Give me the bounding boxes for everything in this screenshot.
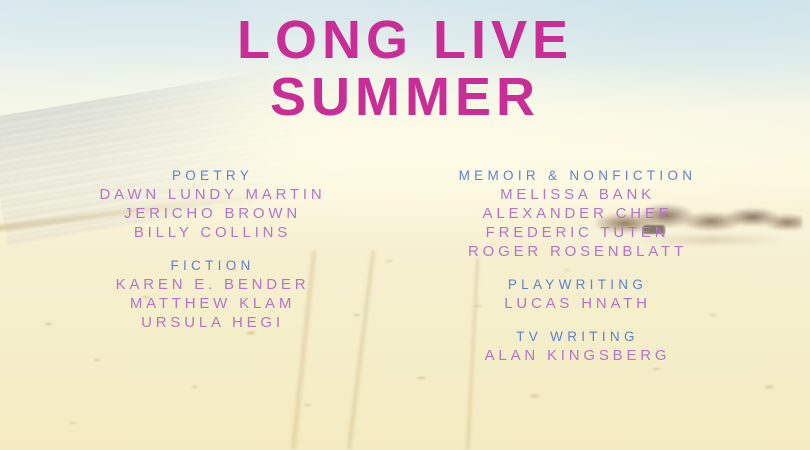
author-name: MATTHEW KLAM	[40, 294, 385, 313]
section-heading-fiction: FICTION	[40, 256, 385, 275]
section-heading-memoir-nonfiction: MEMOIR & NONFICTION	[400, 166, 755, 185]
left-column: POETRY DAWN LUNDY MARTIN JERICHO BROWN B…	[40, 166, 385, 332]
author-name: ALEXANDER CHEE	[400, 204, 755, 223]
summer-lineup-poster: LONG LIVE SUMMER POETRY DAWN LUNDY MARTI…	[0, 0, 810, 450]
section-heading-playwriting: PLAYWRITING	[400, 275, 755, 294]
author-name: MELISSA BANK	[400, 185, 755, 204]
poster-content: LONG LIVE SUMMER POETRY DAWN LUNDY MARTI…	[0, 0, 810, 450]
section-memoir-nonfiction: MEMOIR & NONFICTION MELISSA BANK ALEXAND…	[400, 166, 755, 261]
section-heading-poetry: POETRY	[40, 166, 385, 185]
author-name: LUCAS HNATH	[400, 294, 755, 313]
section-heading-tv-writing: TV WRITING	[400, 327, 755, 346]
author-name: FREDERIC TUTEN	[400, 223, 755, 242]
title-line-1: LONG LIVE	[0, 12, 810, 69]
author-name: ROGER ROSENBLATT	[400, 242, 755, 261]
author-name: BILLY COLLINS	[40, 223, 385, 242]
author-name: URSULA HEGI	[40, 313, 385, 332]
author-name: ALAN KINGSBERG	[400, 346, 755, 365]
right-column: MEMOIR & NONFICTION MELISSA BANK ALEXAND…	[400, 166, 755, 365]
author-name: KAREN E. BENDER	[40, 275, 385, 294]
poster-title: LONG LIVE SUMMER	[0, 12, 810, 126]
section-tv-writing: TV WRITING ALAN KINGSBERG	[400, 327, 755, 365]
section-fiction: FICTION KAREN E. BENDER MATTHEW KLAM URS…	[40, 256, 385, 332]
section-poetry: POETRY DAWN LUNDY MARTIN JERICHO BROWN B…	[40, 166, 385, 242]
section-playwriting: PLAYWRITING LUCAS HNATH	[400, 275, 755, 313]
author-name: DAWN LUNDY MARTIN	[40, 185, 385, 204]
title-line-2: SUMMER	[0, 69, 810, 126]
author-name: JERICHO BROWN	[40, 204, 385, 223]
